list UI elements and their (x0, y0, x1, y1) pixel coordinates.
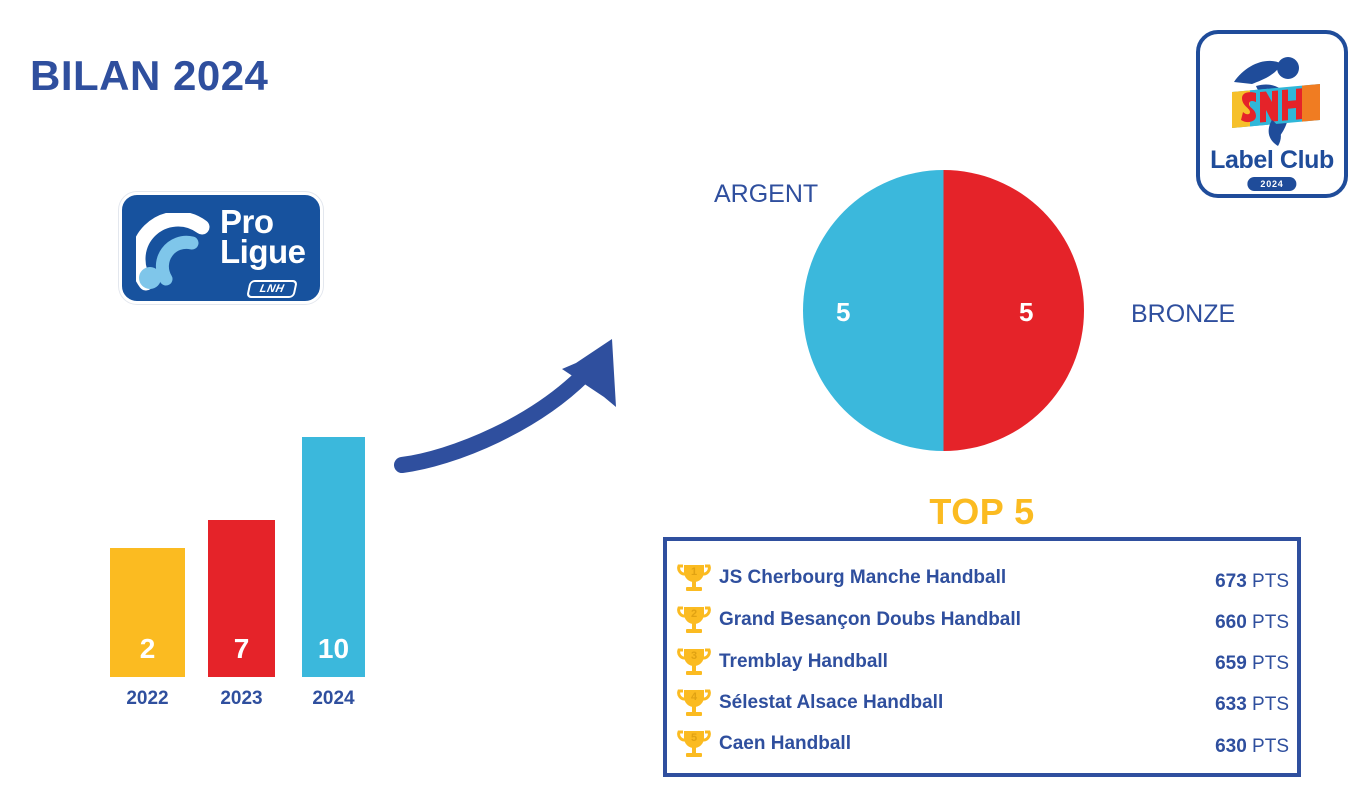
points-cell: 660 PTS (1215, 612, 1289, 634)
label-club-logo: Label Club 2024 (1196, 30, 1348, 198)
points-cell: 659 PTS (1215, 653, 1289, 675)
points-cell: 673 PTS (1215, 571, 1289, 593)
table-row: 3 Tremblay Handball (677, 641, 1289, 682)
table-row: 4 Sélestat Alsace Handball (677, 682, 1289, 723)
label-club-name: Label Club (1200, 146, 1344, 175)
team-name: Sélestat Alsace Handball (719, 692, 943, 714)
rank-number: 3 (677, 650, 711, 662)
points-unit: PTS (1252, 653, 1289, 674)
rank-number: 4 (677, 691, 711, 703)
proligue-line-2: Ligue (220, 237, 306, 267)
points-value: 659 (1215, 653, 1247, 674)
proligue-wordmark: Pro Ligue (220, 207, 306, 268)
points-cell: 633 PTS (1215, 694, 1289, 716)
bar-label-2024: 2024 (294, 688, 373, 710)
bar-column-2024: 10 2024 (302, 437, 365, 677)
pie-value-bronze: 5 (1019, 297, 1033, 328)
trophy-icon: 1 (677, 563, 711, 593)
pie-slice-bronze (944, 170, 1085, 451)
pie-legend-bronze: BRONZE (1131, 300, 1235, 329)
team-name: Caen Handball (719, 733, 851, 755)
points-unit: PTS (1252, 612, 1289, 633)
handball-swoosh-icon (136, 213, 220, 293)
pie-value-argent: 5 (836, 297, 850, 328)
bar-label-2023: 2023 (200, 688, 283, 710)
top5-heading: TOP 5 (663, 491, 1301, 533)
points-value: 630 (1215, 736, 1247, 757)
trophy-icon: 4 (677, 688, 711, 718)
proligue-logo: Pro Ligue LNH (119, 192, 323, 304)
pie-slice-argent (803, 170, 944, 451)
lnh-badge: LNH (246, 280, 298, 298)
infographic-canvas: BILAN 2024 Pro Ligue LNH (0, 0, 1370, 811)
bar-column-2022: 2 2022 (110, 548, 185, 677)
pie-legend-argent: ARGENT (714, 180, 818, 209)
rank-number: 1 (677, 566, 711, 578)
trophy-icon: 2 (677, 605, 711, 635)
points-cell: 630 PTS (1215, 736, 1289, 758)
points-value: 673 (1215, 571, 1247, 592)
bar-value-2023: 7 (208, 633, 275, 665)
rank-number: 2 (677, 608, 711, 620)
trophy-icon: 5 (677, 729, 711, 759)
table-row: 1 JS Cherbourg Manche Handball (677, 557, 1289, 598)
curved-growth-arrow-icon (390, 325, 640, 480)
points-value: 660 (1215, 612, 1247, 633)
points-unit: PTS (1252, 694, 1289, 715)
page-title: BILAN 2024 (30, 52, 268, 100)
bar-column-2023: 7 2023 (208, 520, 275, 677)
handball-player-icon (1216, 42, 1336, 152)
points-unit: PTS (1252, 736, 1289, 757)
team-name: Tremblay Handball (719, 651, 888, 673)
rank-number: 5 (677, 732, 711, 744)
points-unit: PTS (1252, 571, 1289, 592)
team-name: JS Cherbourg Manche Handball (719, 567, 1006, 589)
team-name: Grand Besançon Doubs Handball (719, 609, 1021, 631)
points-value: 633 (1215, 694, 1247, 715)
label-club-year-badge: 2024 (1247, 177, 1296, 191)
medal-pie-chart: 5 5 (803, 170, 1084, 451)
top5-table: 1 JS Cherbourg Manche Handball 673 PTS 2… (663, 537, 1301, 777)
lnh-badge-label: LNH (259, 283, 286, 295)
bar-chart: 2 2022 7 2023 10 2024 (95, 425, 395, 720)
bar-label-2022: 2022 (102, 688, 193, 710)
table-row: 5 Caen Handball (677, 723, 1289, 764)
table-row: 2 Grand Besançon Doubs Handball (677, 599, 1289, 640)
trophy-icon: 3 (677, 647, 711, 677)
bar-value-2022: 2 (110, 633, 185, 665)
bar-value-2024: 10 (302, 633, 365, 665)
